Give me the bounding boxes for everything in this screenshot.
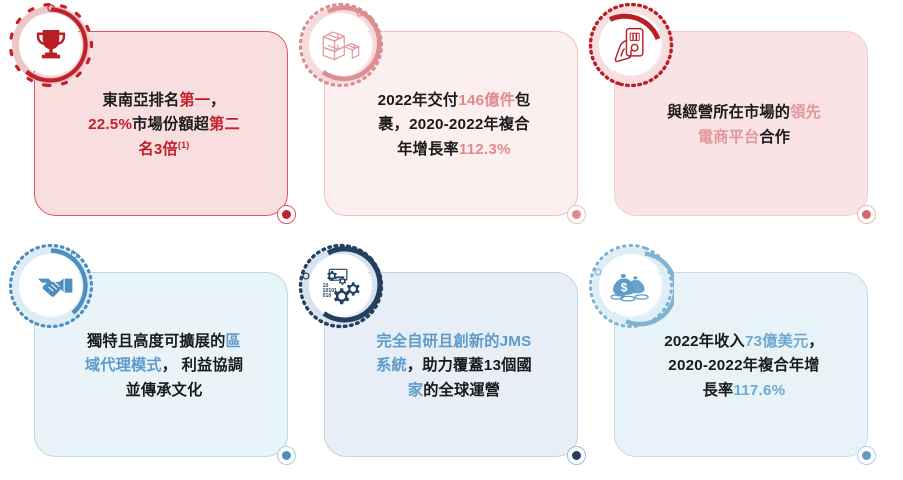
text-segment: 東南亞排名 (102, 92, 179, 109)
stat-card-network-text: 獨特且高度可擴展的區域代理模式， 利益協調並傳承文化 (63, 330, 259, 404)
text-segment: 2022年收入 (664, 333, 745, 350)
text-segment: 2022年交付 (378, 92, 459, 109)
corner-dot-marker (277, 446, 296, 465)
corner-dot-marker (567, 446, 586, 465)
badge-ecommerce (588, 2, 674, 88)
stat-card-parcels-text: 2022年交付146億件包裹，2020-2022年複合年增長率112.3% (356, 89, 547, 163)
text-segment: 裹，2020-2022年複合 (378, 116, 529, 133)
text-segment-highlight: 領先 (790, 104, 821, 121)
trophy-icon (8, 2, 94, 88)
text-segment: 2020-2022年複合年增 (668, 357, 819, 374)
text-segment: 合作 (759, 129, 790, 146)
corner-dot-marker (857, 446, 876, 465)
corner-dot-marker (857, 205, 876, 224)
footnote-marker: (1) (178, 140, 190, 150)
text-segment-highlight: 117.6% (733, 382, 785, 399)
money-bags-icon: $ (588, 243, 674, 329)
badge-trophy (8, 2, 94, 88)
text-segment: 與經營所在市場的 (667, 104, 790, 121)
text-segment-highlight: 區 (226, 333, 241, 350)
stat-card-ecommerce-text: 與經營所在市場的領先電商平台合作 (645, 101, 837, 150)
text-segment: 長率 (703, 382, 734, 399)
text-segment: ， 利益協調 (162, 357, 243, 374)
text-segment: ，助力覆蓋13個國 (407, 357, 532, 374)
svg-text:010: 010 (323, 293, 332, 299)
corner-dot-marker (567, 205, 586, 224)
text-segment: ， (808, 333, 823, 350)
stat-card-ranking-text: 東南亞排名第一，22.5%市場份額超第二名3倍(1) (66, 89, 256, 163)
hand-holding-phone-icon (588, 2, 674, 88)
corner-dot-marker (277, 205, 296, 224)
text-segment: 市場份額超 (132, 116, 209, 133)
text-segment-highlight: 146億件 (458, 92, 515, 109)
text-segment-highlight: 第一 (179, 92, 210, 109)
text-segment: 並傳承文化 (126, 382, 203, 399)
text-segment: ， (210, 92, 225, 109)
badge-jms-system: 10 10101 010 (298, 243, 384, 329)
text-segment: 年增長率 (397, 141, 459, 158)
stat-card-revenue-text: 2022年收入73億美元，2020-2022年複合年增長率117.6% (642, 330, 840, 404)
text-segment-highlight: 第二 (209, 116, 240, 133)
text-segment-highlight: 22.5% (88, 116, 132, 133)
text-segment-highlight: 名3倍 (138, 141, 177, 158)
text-segment: 獨特且高度可擴展的 (87, 333, 226, 350)
gears-automation-icon: 10 10101 010 (298, 243, 384, 329)
text-segment-highlight: 家 (408, 382, 423, 399)
badge-parcels (298, 2, 384, 88)
text-segment-highlight: 系統 (376, 357, 407, 374)
text-segment-highlight: 完全自研且創新的JMS (377, 333, 532, 350)
badge-network (8, 243, 94, 329)
badge-revenue: $ (588, 243, 674, 329)
handshake-icon (8, 243, 94, 329)
text-segment-highlight: 73億美元 (745, 333, 808, 350)
infographic-canvas: 東南亞排名第一，22.5%市場份額超第二名3倍(1) 2022年交付146億件包… (0, 0, 903, 480)
svg-text:$: $ (621, 281, 628, 295)
stat-card-jms-system-text: 完全自研且創新的JMS系統，助力覆蓋13個國家的全球運營 (354, 330, 548, 404)
text-segment: 的全球運營 (423, 382, 500, 399)
text-segment-highlight: 112.3% (459, 141, 511, 158)
parcel-boxes-icon (298, 2, 384, 88)
text-segment: 包 (515, 92, 530, 109)
text-segment-highlight: 域代理模式 (85, 357, 162, 374)
text-segment-highlight: 電商平台 (698, 129, 760, 146)
